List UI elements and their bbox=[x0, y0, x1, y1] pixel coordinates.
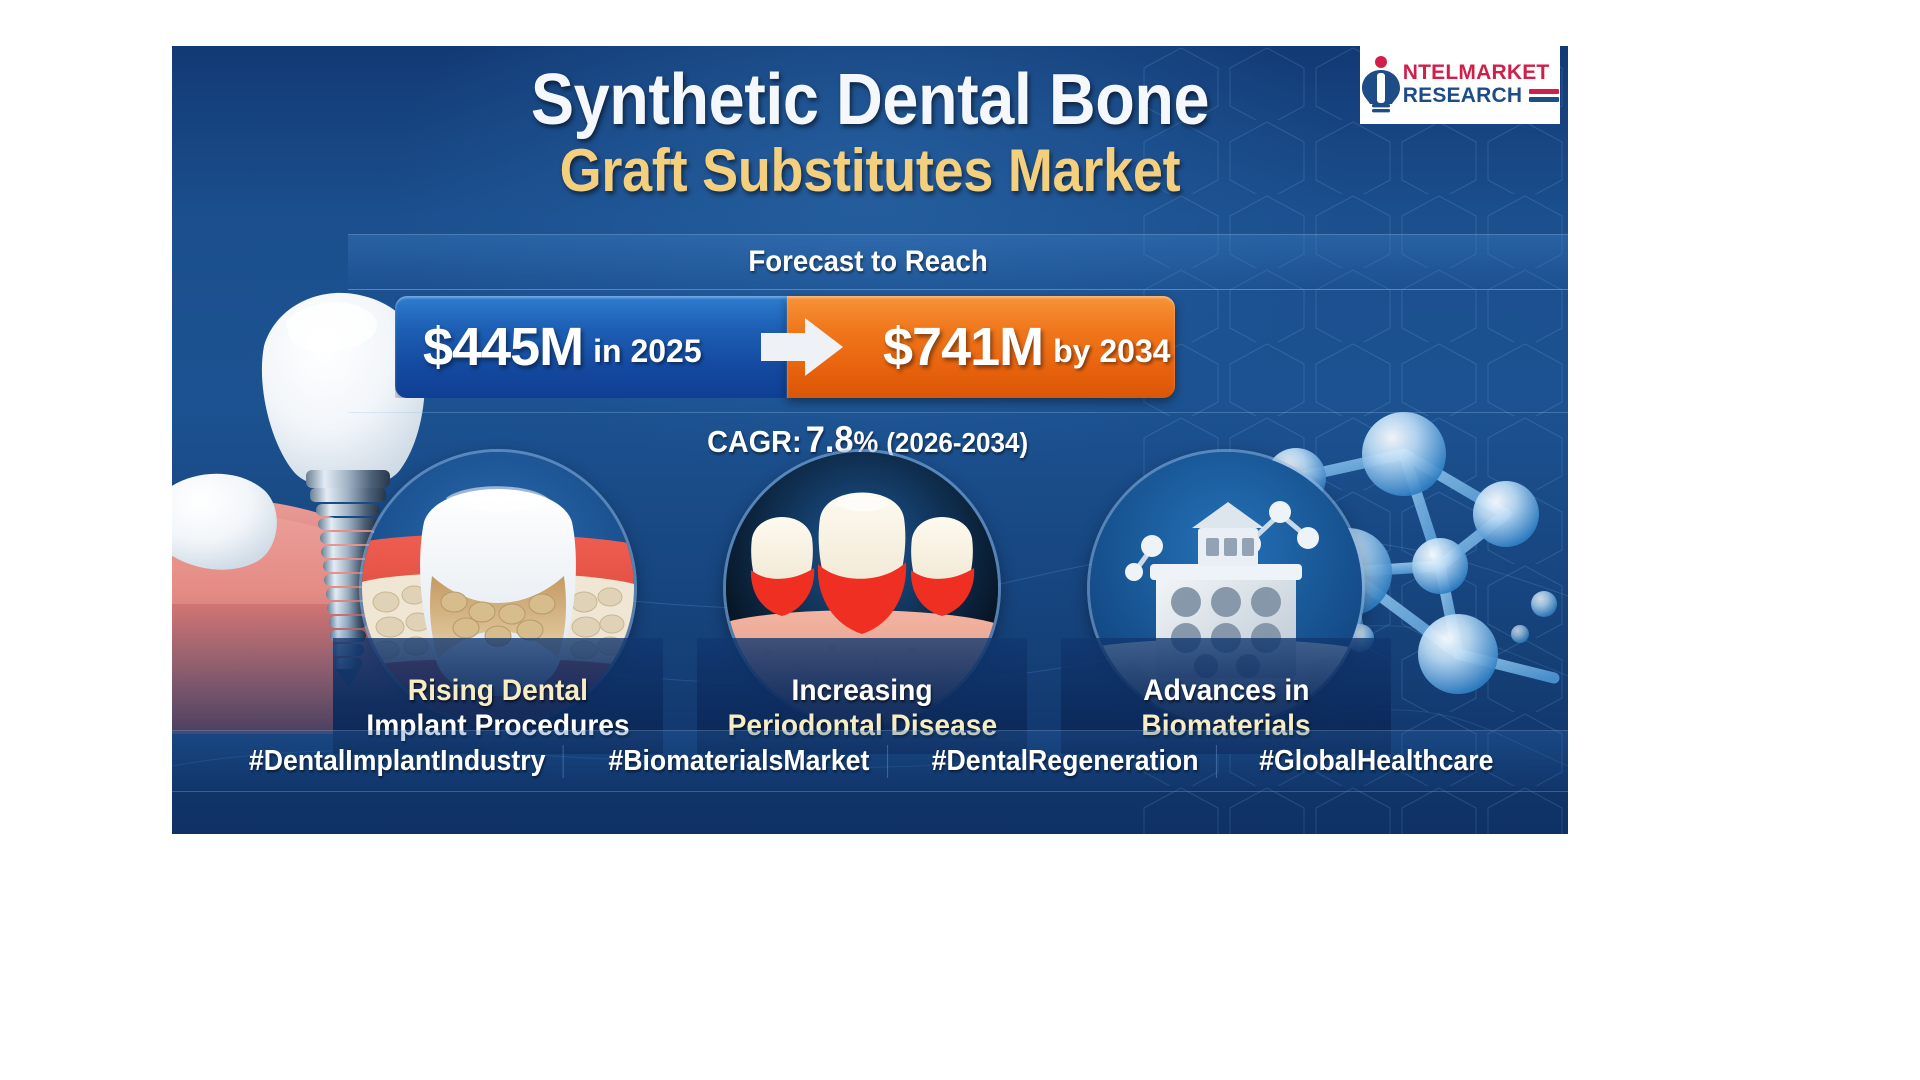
driver-line-1: Increasing bbox=[791, 674, 932, 709]
driver-card[interactable]: Advances in Biomaterials bbox=[1061, 452, 1391, 740]
hashtag[interactable]: #GlobalHealthcare bbox=[1242, 745, 1511, 778]
future-value-pill: $741M by 2034 bbox=[787, 296, 1175, 398]
current-period: in 2025 bbox=[593, 333, 702, 370]
driver-line-1: Rising Dental bbox=[408, 674, 588, 709]
driver-card[interactable]: Rising Dental Implant Procedures bbox=[333, 452, 663, 740]
hashtag[interactable]: #DentalRegeneration bbox=[914, 745, 1217, 778]
infographic-plate: NTELMARKET RESEARCH Synthetic Dental Bon… bbox=[172, 46, 1568, 834]
driver-cards: Rising Dental Implant Procedures bbox=[332, 452, 1392, 740]
future-period: by 2034 bbox=[1053, 333, 1170, 370]
forecast-label: Forecast to Reach bbox=[748, 245, 987, 279]
driver-card[interactable]: Increasing Periodontal Disease bbox=[697, 452, 1027, 740]
hashtag[interactable]: #DentalImplantIndustry bbox=[232, 745, 564, 778]
title-primary: Synthetic Dental Bone bbox=[242, 64, 1498, 137]
current-value: $445M bbox=[423, 316, 583, 378]
market-value-comparison: $445M in 2025 $741M by 2034 bbox=[395, 296, 1175, 398]
current-value-pill: $445M in 2025 bbox=[395, 296, 787, 398]
hashtag[interactable]: #BiomaterialsMarket bbox=[591, 745, 888, 778]
driver-line-1: Advances in bbox=[1143, 674, 1309, 709]
title-secondary: Graft Substitutes Market bbox=[242, 139, 1498, 202]
forecast-label-band: Forecast to Reach bbox=[348, 234, 1568, 290]
future-value: $741M bbox=[883, 316, 1043, 378]
page-title: Synthetic Dental Bone Graft Substitutes … bbox=[172, 64, 1568, 202]
screenshot-canvas: NTELMARKET RESEARCH Synthetic Dental Bon… bbox=[0, 0, 1920, 1080]
hashtag-bar: #DentalImplantIndustry #BiomaterialsMark… bbox=[172, 730, 1568, 792]
